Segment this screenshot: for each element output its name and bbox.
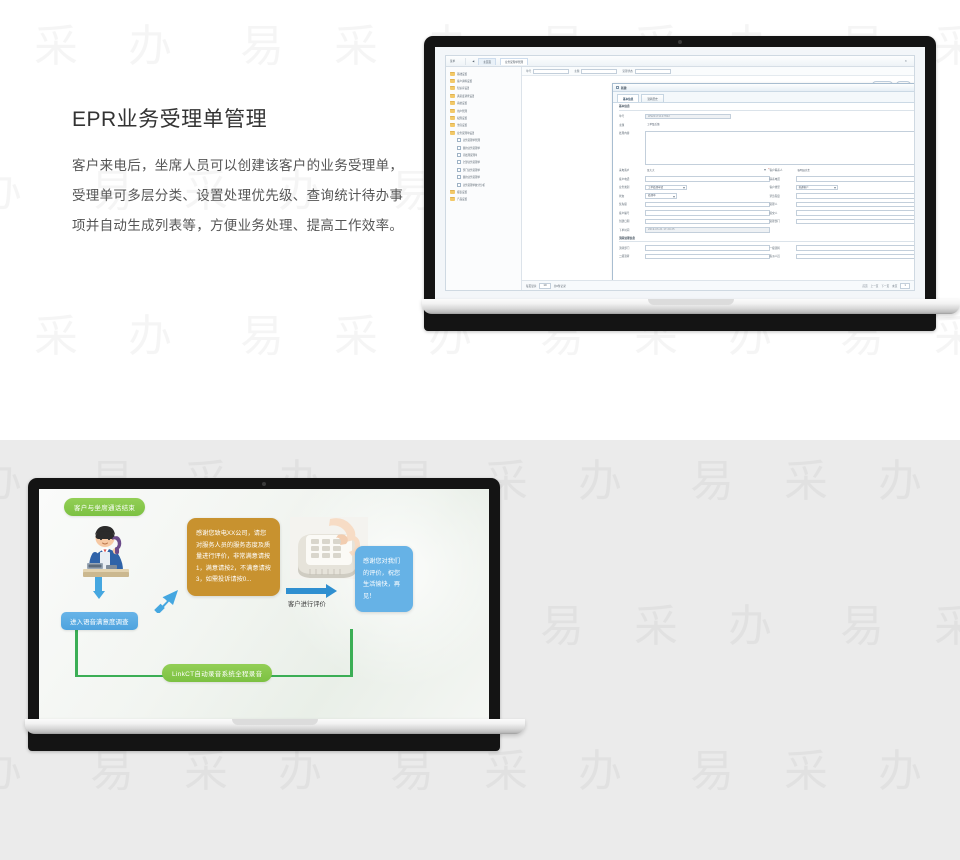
tree-node-label: 产品设置 (457, 197, 467, 201)
tree-node-label: 基础设置 (457, 72, 467, 76)
document-icon (457, 175, 461, 179)
field-label: 处理内容 (619, 131, 645, 136)
top-paragraph: 客户来电后，坐席人员可以创建该客户的业务受理单， 受理单可多层分类、设置处理优先… (72, 151, 442, 241)
satisfaction-flow-diagram: 客户与坐席通话结束 (39, 489, 489, 719)
step-label: 进入语音满意度调查 (61, 612, 138, 630)
tree-node-label: 权限设置 (457, 116, 467, 120)
ivr-prompt-text: 感谢您致电XX公司，请您对服务人员的服务态度及质量进行评价，非常满意请按1，满意… (187, 518, 280, 596)
contact-phone-field[interactable] (796, 176, 915, 182)
flow-start-node: 客户与坐席通话结束 (64, 498, 145, 516)
navigation-tree[interactable]: 基础设置 客户资料设置 知识库设置 满意度调查设置 系统设置 用户管理 权限设置… (446, 67, 522, 290)
customer-number-field[interactable] (645, 210, 770, 216)
tree-node: 基础设置 (448, 70, 519, 77)
field-label: 紧急程度 (770, 193, 796, 198)
top-text-block: EPR业务受理单管理 客户来电后，坐席人员可以创建该客户的业务受理单， 受理单可… (72, 103, 442, 241)
field-label: 二级流转 (619, 254, 645, 259)
top-paragraph-line: 项并自动生成列表等，方便业务处理、提高工作效率。 (72, 211, 442, 241)
laptop-lid: 菜单 ◀ 主页面 业务受理单管理 ✕ 基础设置 客户资料设置 (424, 36, 936, 331)
tree-node-label: 知识库设置 (457, 86, 469, 90)
field-label: 流转部门 (619, 245, 645, 250)
close-all-icon[interactable]: ✕ (904, 59, 910, 63)
folder-icon (450, 197, 455, 201)
tree-node: 用户管理 (448, 107, 519, 114)
handler-field[interactable] (796, 202, 915, 208)
order-number-field: WS20171127H22 (645, 114, 731, 120)
create-date-field[interactable] (645, 219, 770, 225)
status-field[interactable]: 处理中 (645, 193, 677, 199)
tab-home[interactable]: 主页面 (478, 58, 496, 65)
dialog-title: 新建 (621, 86, 627, 90)
tree-node-label: 报表设置 (457, 190, 467, 194)
tree-node-label: 业务受理单管理 (463, 138, 480, 142)
new-record-dialog: 新建 × 基本信息 流转历史 基本信息 (612, 83, 914, 290)
epr-application: 菜单 ◀ 主页面 业务受理单管理 ✕ 基础设置 客户资料设置 (435, 47, 925, 299)
flow-step-node: 进入语音满意度调查 (61, 612, 138, 630)
page-size-select[interactable]: 10 (539, 283, 550, 289)
tree-node: 部门业务受理单 (448, 166, 519, 173)
field-label: 主题 (619, 122, 645, 127)
folder-icon (450, 116, 455, 120)
search-label: 主题 (574, 69, 579, 73)
search-label: 单号 (526, 69, 531, 73)
tree-node: 业务受理单设置 (448, 129, 519, 136)
priority-field[interactable] (645, 202, 770, 208)
prev-page-button[interactable]: 上一页 (871, 284, 879, 288)
first-level-field[interactable] (796, 245, 915, 251)
pagination-bar: 每页显示 10 共0条记录 首页 上一页 下一页 末页 1 (522, 280, 914, 290)
tree-node-label: 系统设置 (457, 101, 467, 105)
tree-node: 客户资料设置 (448, 77, 519, 84)
search-bar: 单号 主题 受理状态 (522, 67, 914, 76)
document-icon (457, 153, 461, 157)
search-input[interactable] (635, 69, 671, 74)
field-label: 业务类别 (619, 185, 645, 190)
field-label: 一级流转 (770, 245, 796, 250)
search-input[interactable] (533, 69, 569, 74)
laptop-base (25, 719, 525, 734)
submitter-field[interactable] (796, 210, 915, 216)
folder-icon (450, 72, 455, 76)
tree-node: 全部业务受理单 (448, 159, 519, 166)
tree-node: 报表设置 (448, 188, 519, 195)
tree-node-label: 待处理受理单 (463, 153, 478, 157)
next-page-button[interactable]: 下一页 (881, 284, 889, 288)
laptop-base (422, 299, 960, 314)
folder-icon (450, 109, 455, 113)
field-label: 提交人 (770, 210, 796, 215)
top-title: EPR业务受理单管理 (72, 103, 442, 133)
tree-node: 知识库设置 (448, 85, 519, 92)
department-field[interactable] (796, 219, 915, 225)
caller-customer-field[interactable]: 某大大 (645, 168, 767, 174)
order-time-field: 2019-03-21 17:20:25 (645, 227, 770, 233)
search-input[interactable] (581, 69, 617, 74)
page-size-label: 每页显示 (526, 284, 536, 288)
tree-node-label: 满意度调查设置 (457, 94, 474, 98)
document-icon (457, 183, 461, 187)
top-paragraph-line: 受理单可多层分类、设置处理优先级、查询统计待办事 (72, 181, 442, 211)
arrow-up-right-icon (154, 587, 180, 613)
tree-node: 我的业务受理单 (448, 173, 519, 180)
tree-node-label: 业务受理单统计分析 (463, 183, 485, 187)
tree-node: 待处理受理单 (448, 151, 519, 158)
folder-icon (450, 94, 455, 98)
tree-node: 我的业务受理单 (448, 144, 519, 151)
laptop-bottom: 客户与坐席通话结束 (28, 478, 500, 751)
field-label: 来电客户 (619, 168, 645, 173)
field-label: 受理人 (770, 202, 796, 207)
tree-node-label: 用户管理 (457, 109, 467, 113)
assignee-field[interactable] (796, 254, 915, 260)
app-toolbar: 菜单 ◀ 主页面 业务受理单管理 ✕ (446, 56, 914, 67)
ivr-prompt-node: 感谢您致电XX公司，请您对服务人员的服务态度及质量进行评价，非常满意请按1，满意… (187, 518, 280, 596)
document-icon (457, 138, 461, 142)
last-page-button[interactable]: 末页 (892, 284, 897, 288)
footer-label: LinkCT自动录音系统全程录音 (162, 664, 272, 682)
field-label: 客户电话 (619, 176, 645, 181)
tree-node: 系统设置 (448, 100, 519, 107)
closing-prompt-node: 感谢您对我们的评价，祝您生活愉快，再见！ (355, 546, 413, 612)
tree-node-label: 坐席设置 (457, 123, 467, 127)
folder-icon (450, 86, 455, 90)
folder-icon (450, 101, 455, 105)
field-label: 客户编号 (619, 210, 645, 215)
agent-illustration-icon (73, 525, 137, 577)
field-label: 单号 (619, 114, 645, 119)
tree-node-label: 业务受理单设置 (457, 131, 474, 135)
tree-node-label: 客户资料设置 (457, 79, 472, 83)
urgency-field[interactable] (796, 193, 915, 199)
evaluation-caption: 客户进行评价 (288, 599, 326, 608)
menu-label[interactable]: 菜单 (450, 59, 455, 63)
customer-type-field[interactable]: 普通客户 (796, 185, 838, 191)
tree-node-label: 全部业务受理单 (463, 160, 480, 164)
subject-field[interactable]: 工单及反馈 (645, 122, 914, 128)
tree-node: 权限设置 (448, 114, 519, 121)
closing-prompt-text: 感谢您对我们的评价，祝您生活愉快，再见！ (355, 546, 413, 612)
tree-node-label: 我的业务受理单 (463, 175, 480, 179)
work-area: 单号 主题 受理状态 高级查询 重置 (522, 67, 914, 290)
field-label: 客户联系人 (770, 168, 796, 173)
window-icon (616, 86, 619, 89)
document-icon (457, 146, 461, 150)
field-label: 受理部门 (770, 219, 796, 224)
laptop-lid: 客户与坐席通话结束 (28, 478, 500, 751)
tab-active[interactable]: 业务受理单管理 (500, 58, 528, 65)
folder-icon (450, 123, 455, 127)
second-level-field[interactable] (645, 254, 770, 260)
tree-node: 坐席设置 (448, 122, 519, 129)
total-records-label: 共0条记录 (554, 284, 566, 288)
tree-node: 业务受理单统计分析 (448, 181, 519, 188)
section-title: 基本信息 (619, 104, 914, 111)
field-label: 创建日期 (619, 219, 645, 224)
tree-node-label: 我的业务受理单 (463, 146, 480, 150)
top-paragraph-line: 客户来电后，坐席人员可以创建该客户的业务受理单， (72, 151, 442, 181)
field-label: 联系电话 (770, 176, 796, 181)
folder-icon (450, 190, 455, 194)
business-type-field[interactable]: 工单处理申请 (645, 185, 687, 191)
laptop-screen-epr: 菜单 ◀ 主页面 业务受理单管理 ✕ 基础设置 客户资料设置 (435, 47, 925, 299)
laptop-screen-flow: 客户与坐席通话结束 (39, 489, 489, 719)
laptop-top: 菜单 ◀ 主页面 业务受理单管理 ✕ 基础设置 客户资料设置 (424, 36, 936, 331)
field-label: 下单时间 (619, 227, 645, 232)
arrow-right-icon (286, 584, 337, 598)
first-page-button[interactable]: 首页 (862, 284, 867, 288)
folder-icon (450, 131, 455, 135)
start-label: 客户与坐席通话结束 (64, 498, 145, 516)
tree-node: 满意度调查设置 (448, 92, 519, 99)
tree-node-label: 部门业务受理单 (463, 168, 480, 172)
content-textarea[interactable] (645, 131, 914, 165)
search-label: 受理状态 (622, 69, 632, 73)
customer-phone-field[interactable] (645, 176, 770, 182)
field-label: 优先级 (619, 202, 645, 207)
field-label: 指派人员 (770, 254, 796, 259)
field-label: 状态 (619, 193, 645, 198)
arrow-down-icon (92, 577, 105, 599)
folder-icon (450, 79, 455, 83)
field-label: 客户类型 (770, 185, 796, 190)
transfer-dept-field[interactable] (645, 245, 770, 251)
customer-contact-field[interactable]: 张明远先生 (796, 168, 915, 174)
nav-prev-icon[interactable]: ◀ (472, 60, 474, 63)
dialog-body: 基本信息 单号 WS20171127H22 主题 工单及反馈 (613, 100, 914, 280)
document-icon (457, 168, 461, 172)
page-number-select[interactable]: 1 (900, 283, 910, 289)
document-icon (457, 160, 461, 164)
tree-node: 产品设置 (448, 196, 519, 203)
tree-node: 业务受理单管理 (448, 137, 519, 144)
sub-section-title: 流转处理信息 (619, 236, 914, 243)
dialog-header: 新建 × (613, 84, 914, 92)
tab-bar: ◀ 主页面 业务受理单管理 (465, 58, 528, 65)
flow-footer-node: LinkCT自动录音系统全程录音 (162, 664, 272, 682)
